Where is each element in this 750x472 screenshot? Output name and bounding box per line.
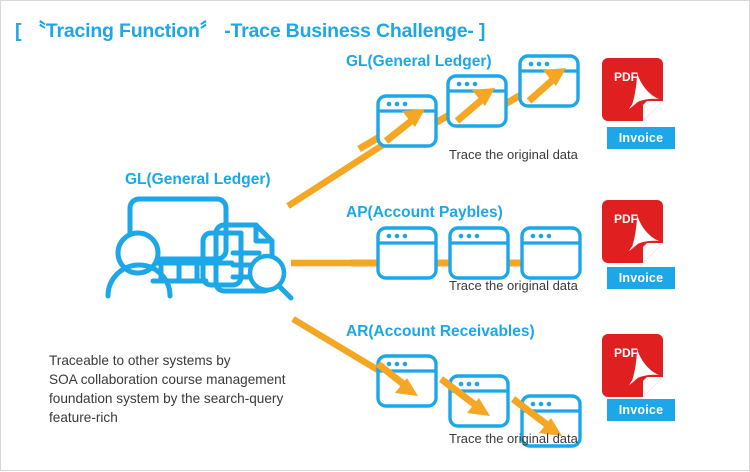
gl-window-1[interactable] <box>378 96 436 146</box>
gl-arrow-1-head <box>386 109 425 141</box>
ar-row-heading: AR(Account Receivables) <box>346 323 535 341</box>
gl-invoice-button[interactable]: Invoice <box>607 127 675 149</box>
svg-text:PDF: PDF <box>614 346 638 360</box>
ar-row-caption: Trace the original data <box>449 431 578 446</box>
gl-arrow-3 <box>493 68 566 111</box>
gl-arrow-2 <box>421 88 495 131</box>
svg-text:PDF: PDF <box>614 212 638 226</box>
monitor-icon <box>130 199 232 281</box>
ar-window-2[interactable] <box>450 376 508 426</box>
svg-text:PDF: PDF <box>614 70 638 84</box>
ap-row-heading: AP(Account Paybles) <box>346 204 503 222</box>
ar-pdf-icon[interactable]: PDF <box>602 334 663 397</box>
ap-pdf-icon[interactable]: PDF <box>602 200 663 263</box>
gl-window-3[interactable] <box>520 56 578 106</box>
ap-row-caption: Trace the original data <box>449 278 578 293</box>
gl-pdf-icon[interactable]: PDF <box>602 58 663 121</box>
gl-arrow-3-head <box>529 68 566 101</box>
ap-invoice-button[interactable]: Invoice <box>607 267 675 289</box>
ap-arrow-head-1 <box>405 251 425 275</box>
ar-arrow-2 <box>441 379 490 416</box>
document-stack-icon <box>203 225 272 291</box>
ap-arrow-head-2 <box>477 251 497 275</box>
ar-arrow-1 <box>378 364 418 396</box>
connector-to-gl-row <box>288 141 389 206</box>
ap-window-2[interactable] <box>450 228 508 278</box>
ar-window-1[interactable] <box>378 356 436 406</box>
gl-arrow-1 <box>359 109 425 149</box>
diagram-canvas: [ 〝Tracing Function〞 -Trace Business Cha… <box>0 0 750 471</box>
person-icon <box>108 233 170 296</box>
note-paragraph: Traceable to other systems by SOA collab… <box>49 351 349 427</box>
source-label: GL(General Ledger) <box>125 171 271 189</box>
ar-invoice-button[interactable]: Invoice <box>607 399 675 421</box>
magnifier-icon <box>250 256 291 298</box>
note-line-4: feature-rich <box>49 408 349 427</box>
gl-arrow-2-head <box>457 88 495 121</box>
note-line-1: Traceable to other systems by <box>49 351 349 370</box>
ap-window-1[interactable] <box>378 228 436 278</box>
ap-arrow-head-3 <box>549 251 569 275</box>
page-title: [ 〝Tracing Function〞 -Trace Business Cha… <box>15 14 485 43</box>
note-line-2: SOA collaboration course management <box>49 370 349 389</box>
ap-window-3[interactable] <box>522 228 580 278</box>
gl-row-heading: GL(General Ledger) <box>346 53 492 71</box>
gl-row-caption: Trace the original data <box>449 147 578 162</box>
note-line-3: foundation system by the search-query <box>49 389 349 408</box>
gl-window-2[interactable] <box>448 76 506 126</box>
